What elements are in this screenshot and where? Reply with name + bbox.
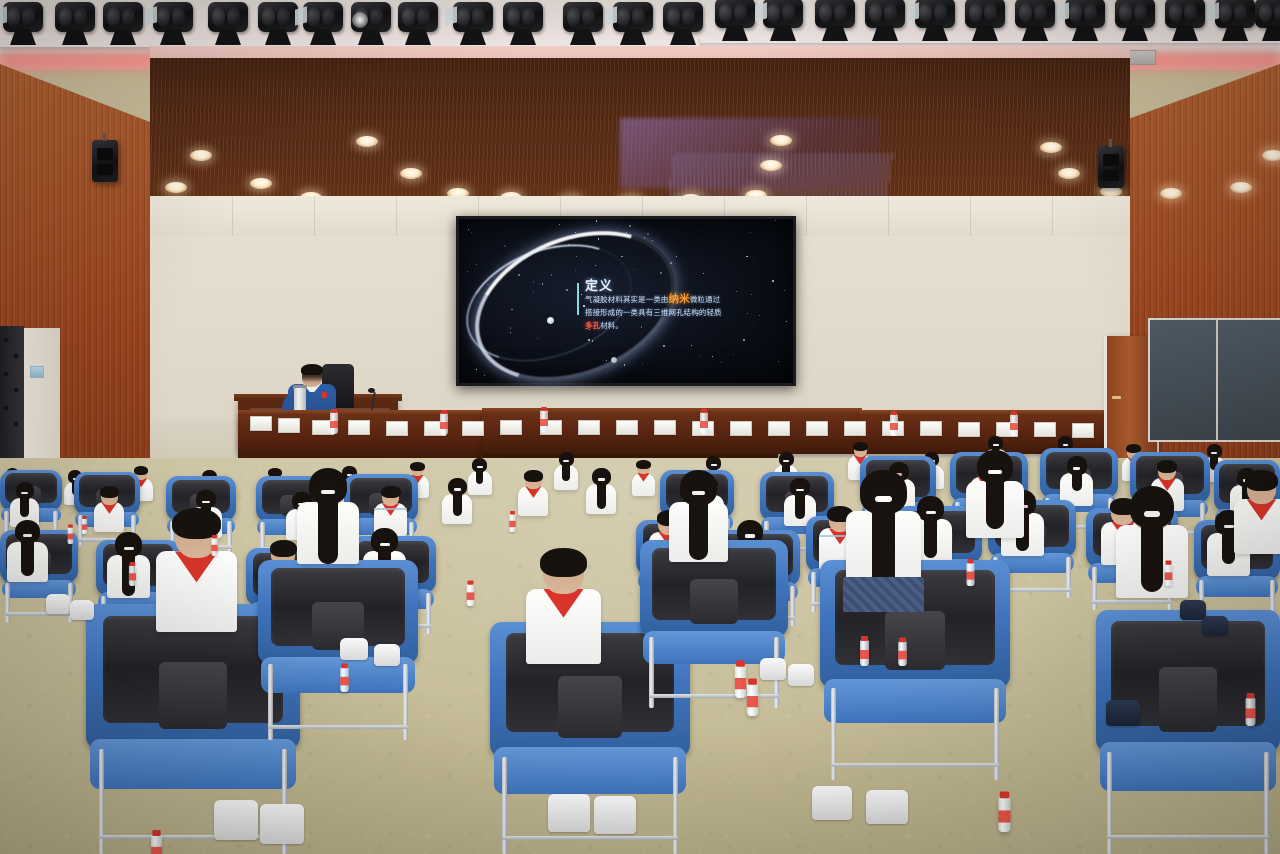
star: [468, 229, 469, 230]
water-bottle-icon: [151, 835, 162, 854]
hair-tie: [202, 501, 209, 503]
water-bottle-icon: [898, 641, 907, 666]
star: [575, 232, 576, 233]
student: [520, 548, 607, 708]
ponytail: [21, 532, 33, 576]
hair-tie: [796, 489, 803, 491]
star: [663, 345, 665, 347]
stage-light-icon: [660, 2, 706, 48]
stage-light-icon: [1112, 0, 1158, 44]
recessed-downlight-icon: [165, 182, 187, 193]
student-hair: [410, 462, 424, 471]
stage-light-icon: [812, 0, 858, 44]
wall-speaker-left: [92, 140, 118, 182]
shoe: [1202, 616, 1228, 636]
star: [471, 232, 472, 233]
shoe: [812, 786, 852, 820]
recessed-downlight-icon: [356, 136, 378, 147]
slide-line1-pre: 气凝胶材料其实是一类由: [585, 295, 669, 304]
slide-line2: 搭接形成的一类具有三维网孔结构的轻质: [585, 308, 722, 317]
star: [743, 339, 745, 341]
recessed-downlight-icon: [1262, 150, 1280, 161]
star: [476, 369, 477, 370]
water-bottle-icon: [211, 538, 217, 556]
shoe: [788, 664, 814, 686]
star: [647, 233, 649, 235]
hair-tie: [1063, 444, 1068, 446]
student: [516, 470, 551, 534]
wall-notice-left: [30, 366, 44, 378]
star: [699, 355, 700, 356]
name-card-icon: [578, 420, 600, 435]
name-card-icon: [1034, 422, 1056, 437]
water-bottle-icon: [467, 584, 475, 606]
hair-tie: [745, 534, 755, 537]
name-card-icon: [920, 421, 942, 436]
stage-light-icon: [395, 2, 441, 48]
stage-light-icon: [912, 0, 958, 44]
star: [559, 224, 560, 225]
slide-highlight-nano: 纳米: [669, 293, 690, 305]
student-hair: [1157, 460, 1177, 473]
slide-title: 定义: [585, 275, 613, 294]
star: [733, 354, 734, 355]
shoe: [340, 638, 368, 660]
student: [150, 508, 243, 679]
student: [584, 468, 619, 532]
stage-light-icon: [1062, 0, 1108, 44]
shoe: [594, 796, 636, 834]
student: [440, 478, 475, 542]
stage-light-icon: [348, 2, 394, 48]
star: [467, 271, 468, 272]
hair-tie: [23, 534, 32, 537]
name-card-icon: [844, 421, 866, 436]
doorway-left[interactable]: [18, 328, 60, 463]
hair-tie: [692, 491, 706, 496]
student: [630, 460, 657, 510]
star: [703, 273, 704, 274]
presenter-hair: [301, 364, 323, 375]
star: [624, 364, 626, 366]
student-hair: [1245, 470, 1279, 491]
student-hair: [524, 470, 543, 482]
ponytail: [318, 487, 337, 564]
stage-light-icon: [1012, 0, 1058, 44]
hair-tie: [926, 511, 936, 514]
school-skirt: [843, 577, 924, 612]
stage-light-icon: [0, 2, 46, 48]
name-card-icon: [730, 421, 752, 436]
shoe: [1106, 700, 1140, 726]
water-bottle-icon: [68, 527, 74, 544]
hair-tie: [21, 492, 28, 494]
ponytail: [986, 468, 1004, 530]
recessed-downlight-icon: [1160, 188, 1182, 199]
student-hair: [636, 460, 650, 469]
star: [484, 375, 485, 376]
name-card-icon: [278, 418, 300, 433]
stage-ceiling-panel: [150, 58, 1130, 198]
hair-tie: [1144, 511, 1161, 517]
star: [712, 356, 713, 357]
star: [629, 225, 631, 227]
recessed-downlight-icon: [1058, 168, 1080, 179]
slide-highlight-porous: 多孔: [585, 321, 600, 330]
star: [775, 220, 776, 221]
student-hair: [100, 486, 119, 498]
water-bottle-icon: [747, 684, 758, 717]
recessed-downlight-icon: [190, 150, 212, 161]
hair-tie: [875, 496, 892, 502]
stage-light-icon: [300, 2, 346, 48]
recessed-downlight-icon: [1230, 182, 1252, 193]
stage-light-icon: [862, 0, 908, 44]
hair-tie: [598, 478, 605, 480]
name-card-icon: [386, 421, 408, 436]
water-bottle-icon: [1010, 414, 1018, 436]
water-bottle-icon: [540, 410, 548, 432]
student: [4, 520, 51, 606]
water-bottle-icon: [998, 797, 1010, 832]
ponytail: [1141, 508, 1163, 592]
ponytail: [597, 477, 606, 508]
star: [746, 256, 748, 258]
star: [691, 345, 692, 346]
ponytail: [795, 488, 805, 519]
hair-tie: [380, 543, 390, 546]
water-bottle-icon: [129, 565, 136, 586]
shoe: [548, 794, 590, 832]
stage-light-icon: [500, 2, 546, 48]
rear-wall-board: [1148, 318, 1280, 442]
hair-tie: [711, 464, 717, 466]
ponytail: [20, 491, 29, 517]
star: [652, 240, 653, 241]
water-bottle-icon: [700, 412, 708, 434]
water-bottle-icon: [440, 413, 448, 435]
star: [642, 363, 643, 364]
wall-speaker-right: [1098, 146, 1124, 188]
slide-line1-post: 微粒通过: [690, 295, 720, 304]
water-bottle-icon: [340, 667, 349, 692]
shoe: [214, 800, 258, 840]
water-bottle-icon: [735, 666, 746, 699]
name-card-icon: [768, 421, 790, 436]
student: [1230, 470, 1280, 586]
name-card-icon: [250, 416, 272, 431]
stage-light-icon: [610, 2, 656, 48]
ponytail: [562, 460, 570, 482]
water-bottle-icon: [890, 414, 898, 436]
hair-tie: [124, 547, 134, 550]
name-card-icon: [806, 421, 828, 436]
shoe: [260, 804, 304, 844]
stage-light-icon: [205, 2, 251, 48]
recessed-downlight-icon: [760, 160, 782, 171]
planet-dot: [547, 317, 554, 324]
presenter-badge: [322, 392, 327, 398]
shoe: [760, 658, 786, 680]
shoe: [866, 790, 908, 824]
hair-tie: [988, 470, 1001, 474]
student: [664, 470, 733, 597]
student: [962, 450, 1028, 571]
stage-light-icon: [712, 0, 758, 44]
recessed-downlight-icon: [400, 168, 422, 179]
ponytail: [476, 465, 483, 483]
microphone-icon: [368, 388, 375, 393]
water-bottle-icon: [860, 640, 869, 666]
audience-chair-front-far-right[interactable]: [1096, 610, 1280, 854]
star: [772, 280, 774, 282]
stage-light-icon: [760, 0, 806, 44]
thermos-icon: [294, 388, 306, 412]
door-handle[interactable]: [1112, 396, 1121, 399]
uniform-stripe: [374, 508, 406, 510]
hair-tie: [1073, 467, 1080, 469]
student-hair: [853, 442, 868, 451]
star: [721, 362, 722, 363]
hair-tie: [477, 466, 483, 468]
shoe: [1180, 600, 1206, 620]
ponytail: [1072, 466, 1082, 491]
water-bottle-icon: [509, 514, 515, 532]
water-bottle-icon: [1246, 697, 1256, 726]
shoe: [374, 644, 400, 666]
ponytail: [453, 487, 462, 516]
star: [750, 232, 751, 233]
student: [840, 470, 927, 630]
name-card-icon: [462, 421, 484, 436]
stage-light-icon: [450, 2, 496, 48]
star: [476, 264, 477, 265]
slide-body: 气凝胶材料其实是一类由纳米微粒通过 搭接形成的一类具有三维网孔结构的轻质 多孔材…: [585, 293, 785, 332]
stage-light-icon: [1162, 0, 1208, 44]
student-hair: [540, 548, 586, 577]
stage-light-icon: [1252, 0, 1280, 44]
student: [292, 468, 364, 600]
star: [676, 256, 677, 257]
door-icon-left[interactable]: [0, 326, 24, 466]
name-card-icon: [348, 420, 370, 435]
water-bottle-icon: [330, 412, 338, 434]
shoe: [46, 594, 70, 614]
shoe: [70, 600, 94, 620]
stage-light-icon: [100, 2, 146, 48]
stage-light-icon: [52, 2, 98, 48]
student: [552, 452, 580, 504]
star: [606, 372, 607, 373]
stage-light-icon: [150, 2, 196, 48]
stage-light-icon: [560, 2, 606, 48]
slide-line3-post: 材料。: [600, 321, 623, 330]
name-card-icon: [958, 422, 980, 437]
slide-accent-bar: [577, 283, 579, 315]
lecture-hall-photo: 科普讲座《烟火里的尘埃--航天材料纳米气凝胶》 定义 气凝胶材料其实是一类由纳米…: [0, 0, 1280, 854]
water-bottle-icon: [966, 563, 974, 586]
student-hair: [381, 486, 401, 498]
ponytail: [689, 488, 707, 559]
water-bottle-icon: [1165, 564, 1173, 586]
planet-dot-2: [611, 357, 617, 363]
hair-tie: [454, 488, 461, 490]
recessed-downlight-icon: [250, 178, 272, 189]
hair-tie: [321, 490, 335, 495]
water-bottle-icon: [82, 518, 87, 534]
star: [596, 220, 597, 221]
star: [784, 290, 785, 291]
hair-tie: [993, 444, 999, 446]
name-card-icon: [654, 420, 676, 435]
star: [778, 361, 779, 362]
stage-light-icon: [962, 0, 1008, 44]
recessed-downlight-icon: [1040, 142, 1062, 153]
name-card-icon: [616, 420, 638, 435]
projection-screen: 定义 气凝胶材料其实是一类由纳米微粒通过 搭接形成的一类具有三维网孔结构的轻质 …: [456, 216, 796, 386]
recessed-downlight-icon: [770, 135, 792, 146]
star: [786, 321, 787, 322]
star: [504, 245, 506, 247]
name-card-icon: [500, 420, 522, 435]
